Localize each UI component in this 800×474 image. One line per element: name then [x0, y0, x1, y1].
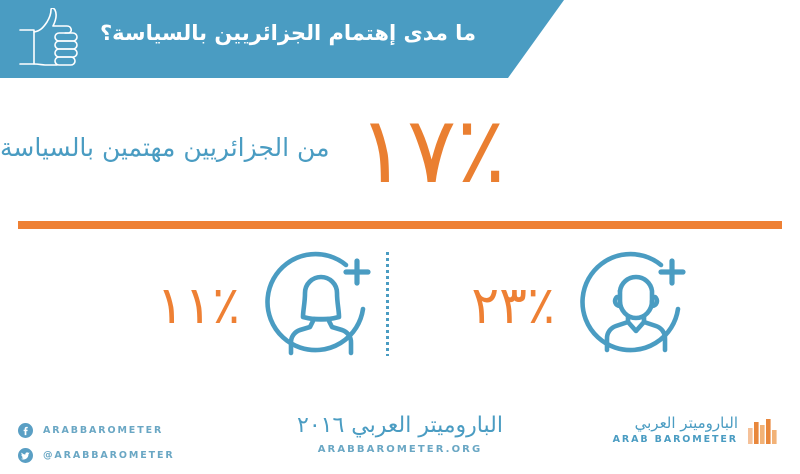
gender-value-female: ١١٪ [156, 280, 240, 332]
gender-stat-female: ١١٪ [156, 243, 380, 368]
thumbs-up-icon [16, 8, 84, 72]
center-brand-url[interactable]: ARABBAROMETER.ORG [0, 444, 800, 455]
footer-logo-text: الباروميتر العربي ARAB BAROMETER [613, 414, 738, 445]
main-stat-label: من الجزائريين مهتمين بالسياسة [0, 132, 329, 169]
main-stat-row: ١٧٪ من الجزائريين مهتمين بالسياسة [0, 96, 800, 206]
male-person-plus-icon [577, 247, 695, 365]
footer: ARABBAROMETER @ARABBAROMETER الباروميتر … [0, 396, 800, 474]
gender-value-male: ٢٣٪ [471, 280, 555, 332]
footer-logo-english: ARAB BAROMETER [613, 434, 738, 445]
footer-logo-arabic: الباروميتر العربي [613, 414, 738, 432]
gender-stat-male: ٢٣٪ [471, 243, 695, 368]
orange-divider [18, 221, 782, 229]
page-title: ما مدى إهتمام الجزائريين بالسياسة؟ [100, 20, 520, 47]
header-banner: ما مدى إهتمام الجزائريين بالسياسة؟ [0, 0, 564, 78]
female-person-plus-icon [262, 247, 380, 365]
main-stat-value: ١٧٪ [347, 105, 505, 197]
gender-breakdown: ٢٣٪ ١١٪ [0, 243, 800, 368]
vertical-divider [386, 252, 389, 356]
bar-chart-logo-icon [748, 416, 782, 444]
footer-logo: الباروميتر العربي ARAB BAROMETER [613, 414, 782, 445]
